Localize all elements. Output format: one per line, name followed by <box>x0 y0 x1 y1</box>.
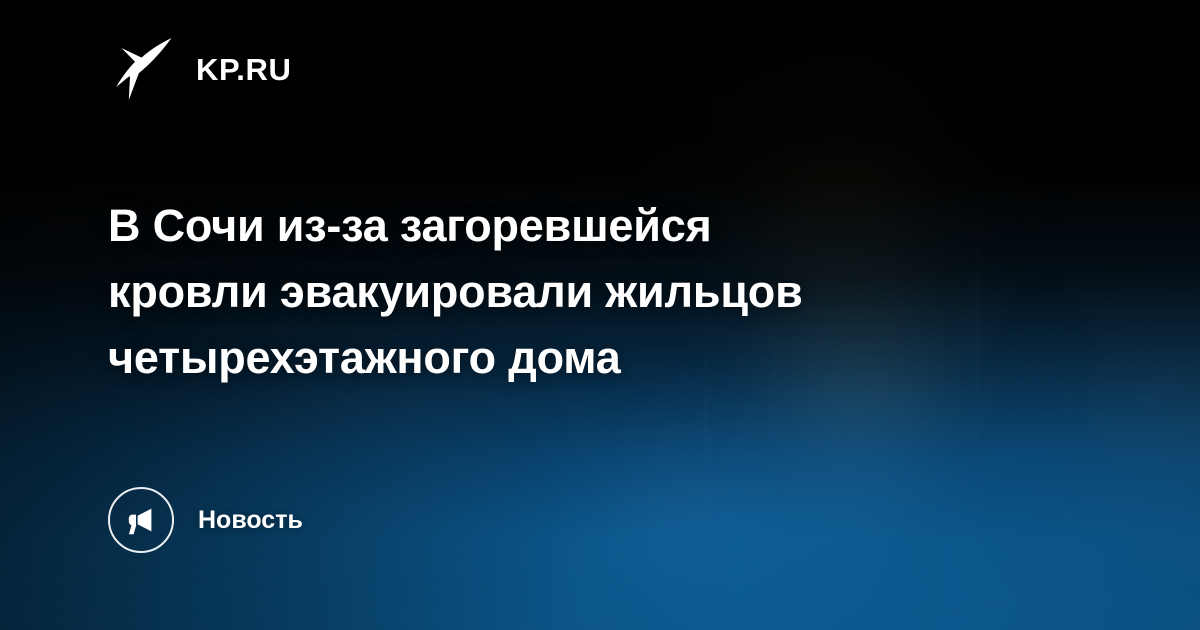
category-label: Новость <box>198 508 303 533</box>
megaphone-icon <box>108 487 174 553</box>
swallow-bird-icon <box>108 36 174 102</box>
brand-name: KP.RU <box>196 54 291 85</box>
headline-line-1: В Сочи из-за загоревшейся <box>108 193 1008 259</box>
brand-logo[interactable]: KP.RU <box>108 36 291 102</box>
headline-line-3: четырехэтажного дома <box>108 325 1008 391</box>
headline: В Сочи из-за загоревшейся кровли эвакуир… <box>108 193 1008 391</box>
category-badge[interactable]: Новость <box>108 487 303 553</box>
card-content: KP.RU В Сочи из-за загоревшейся кровли э… <box>0 0 1200 630</box>
social-share-card: KP.RU В Сочи из-за загоревшейся кровли э… <box>0 0 1200 630</box>
headline-line-2: кровли эвакуировали жильцов <box>108 259 1008 325</box>
